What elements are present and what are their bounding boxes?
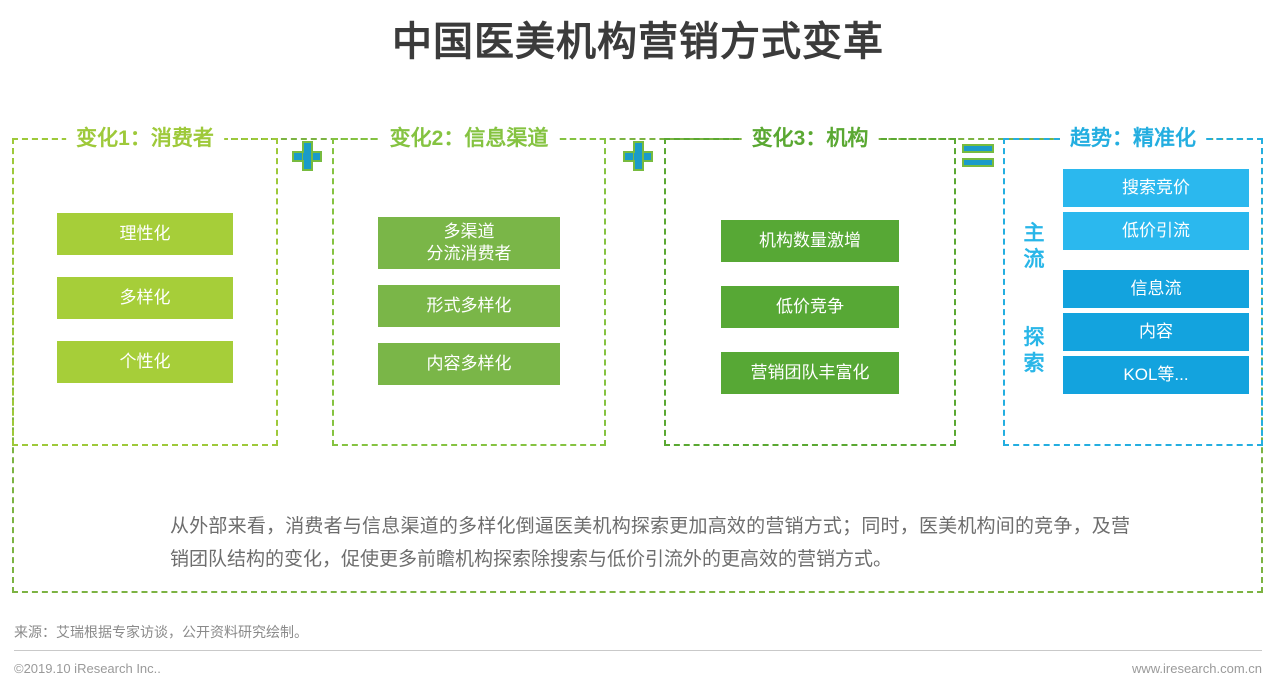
trend-body: 主 流 探 索 搜索竞价 低价引流 信息流 内容 KOL等... — [1005, 169, 1261, 409]
equals-icon — [958, 136, 998, 176]
trend-side-labels: 主 流 探 索 — [1005, 169, 1063, 409]
trend-item-box: 信息流 — [1063, 270, 1249, 308]
item-stack-information-channel: 多渠道 分流消费者 形式多样化 内容多样化 — [334, 217, 604, 385]
item-box: 机构数量激增 — [721, 220, 899, 262]
item-box: 个性化 — [57, 341, 233, 383]
item-box: 多渠道 分流消费者 — [378, 217, 560, 269]
item-box: 低价竞争 — [721, 286, 899, 328]
copyright-text: ©2019.10 iResearch Inc.. — [14, 660, 161, 678]
trend-item-box: 内容 — [1063, 313, 1249, 351]
column-consumer: 变化1：消费者 理性化 多样化 个性化 — [12, 138, 278, 446]
footer-divider — [14, 650, 1262, 651]
trend-item-box: 搜索竞价 — [1063, 169, 1249, 207]
website-link[interactable]: www.iresearch.com.cn — [1132, 660, 1262, 678]
item-box: 内容多样化 — [378, 343, 560, 385]
side-label-char: 索 — [1005, 351, 1063, 377]
item-box: 营销团队丰富化 — [721, 352, 899, 394]
column-header-trend: 趋势：精准化 — [1060, 125, 1206, 153]
column-header-institution: 变化3：机构 — [742, 125, 879, 153]
column-information-channel: 变化2：信息渠道 多渠道 分流消费者 形式多样化 内容多样化 — [332, 138, 606, 446]
item-box: 多样化 — [57, 277, 233, 319]
trend-item-box: 低价引流 — [1063, 212, 1249, 250]
side-label-char: 主 — [1005, 221, 1063, 247]
source-note: 来源：艾瑞根据专家访谈，公开资料研究绘制。 — [14, 622, 308, 642]
item-box: 理性化 — [57, 213, 233, 255]
column-institution: 变化3：机构 机构数量激增 低价竞争 营销团队丰富化 — [664, 138, 956, 446]
item-box: 形式多样化 — [378, 285, 560, 327]
plus-icon — [287, 136, 327, 176]
side-label-explore: 探 索 — [1005, 325, 1063, 377]
summary-paragraph: 从外部来看，消费者与信息渠道的多样化倒逼医美机构探索更加高效的营销方式；同时，医… — [170, 510, 1130, 576]
trend-item-box: KOL等... — [1063, 356, 1249, 394]
trend-group-divider — [1063, 255, 1064, 265]
side-label-char: 探 — [1005, 325, 1063, 351]
trend-item-stack: 搜索竞价 低价引流 信息流 内容 KOL等... — [1063, 169, 1261, 394]
plus-icon — [618, 136, 658, 176]
column-trend-precision: 趋势：精准化 主 流 探 索 搜索竞价 低价引流 信息流 内容 KOL等... — [1003, 138, 1263, 446]
item-line-2: 分流消费者 — [427, 243, 512, 265]
item-stack-consumer: 理性化 多样化 个性化 — [14, 213, 276, 383]
column-header-information-channel: 变化2：信息渠道 — [380, 125, 559, 153]
side-label-mainstream: 主 流 — [1005, 221, 1063, 273]
item-stack-institution: 机构数量激增 低价竞争 营销团队丰富化 — [666, 220, 954, 394]
column-header-consumer: 变化1：消费者 — [66, 125, 224, 153]
item-line-1: 多渠道 — [444, 221, 495, 243]
side-label-char: 流 — [1005, 247, 1063, 273]
page-title: 中国医美机构营销方式变革 — [0, 14, 1276, 70]
